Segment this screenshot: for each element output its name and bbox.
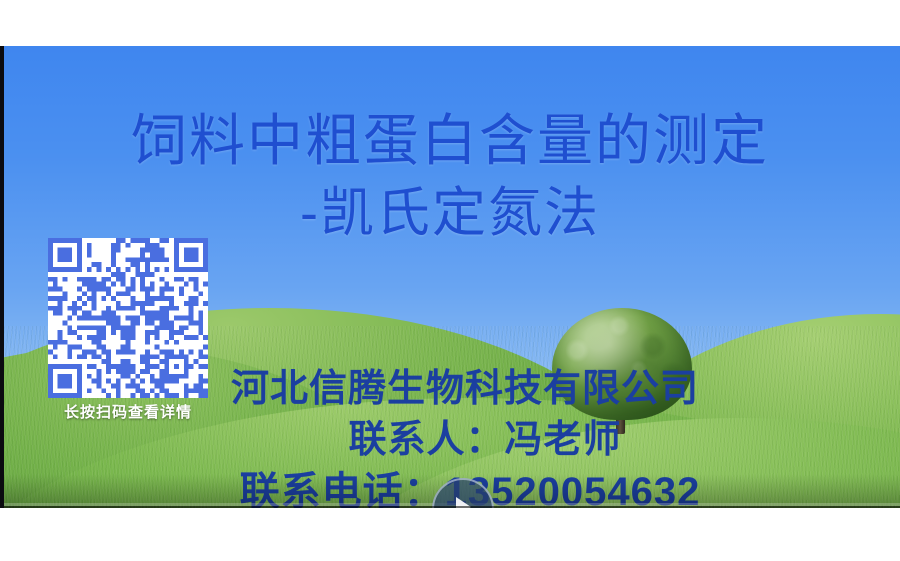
qr-code-icon[interactable] [48, 238, 208, 398]
screenshot-root: 饲料中粗蛋白含量的测定 -凯氏定氮法 河北信腾生物科技有限公司 联系人：冯老师 … [0, 0, 900, 561]
poster-title-line1: 饲料中粗蛋白含量的测定 [0, 112, 900, 169]
frame-bottom-band [0, 506, 900, 508]
poster-title-line2: -凯氏定氮法 [0, 186, 900, 241]
frame-edge-left [0, 46, 4, 508]
qr-code-canvas [48, 238, 208, 398]
qr-caption: 长按扫码查看详情 [28, 401, 228, 422]
video-poster[interactable]: 饲料中粗蛋白含量的测定 -凯氏定氮法 河北信腾生物科技有限公司 联系人：冯老师 … [0, 46, 900, 508]
